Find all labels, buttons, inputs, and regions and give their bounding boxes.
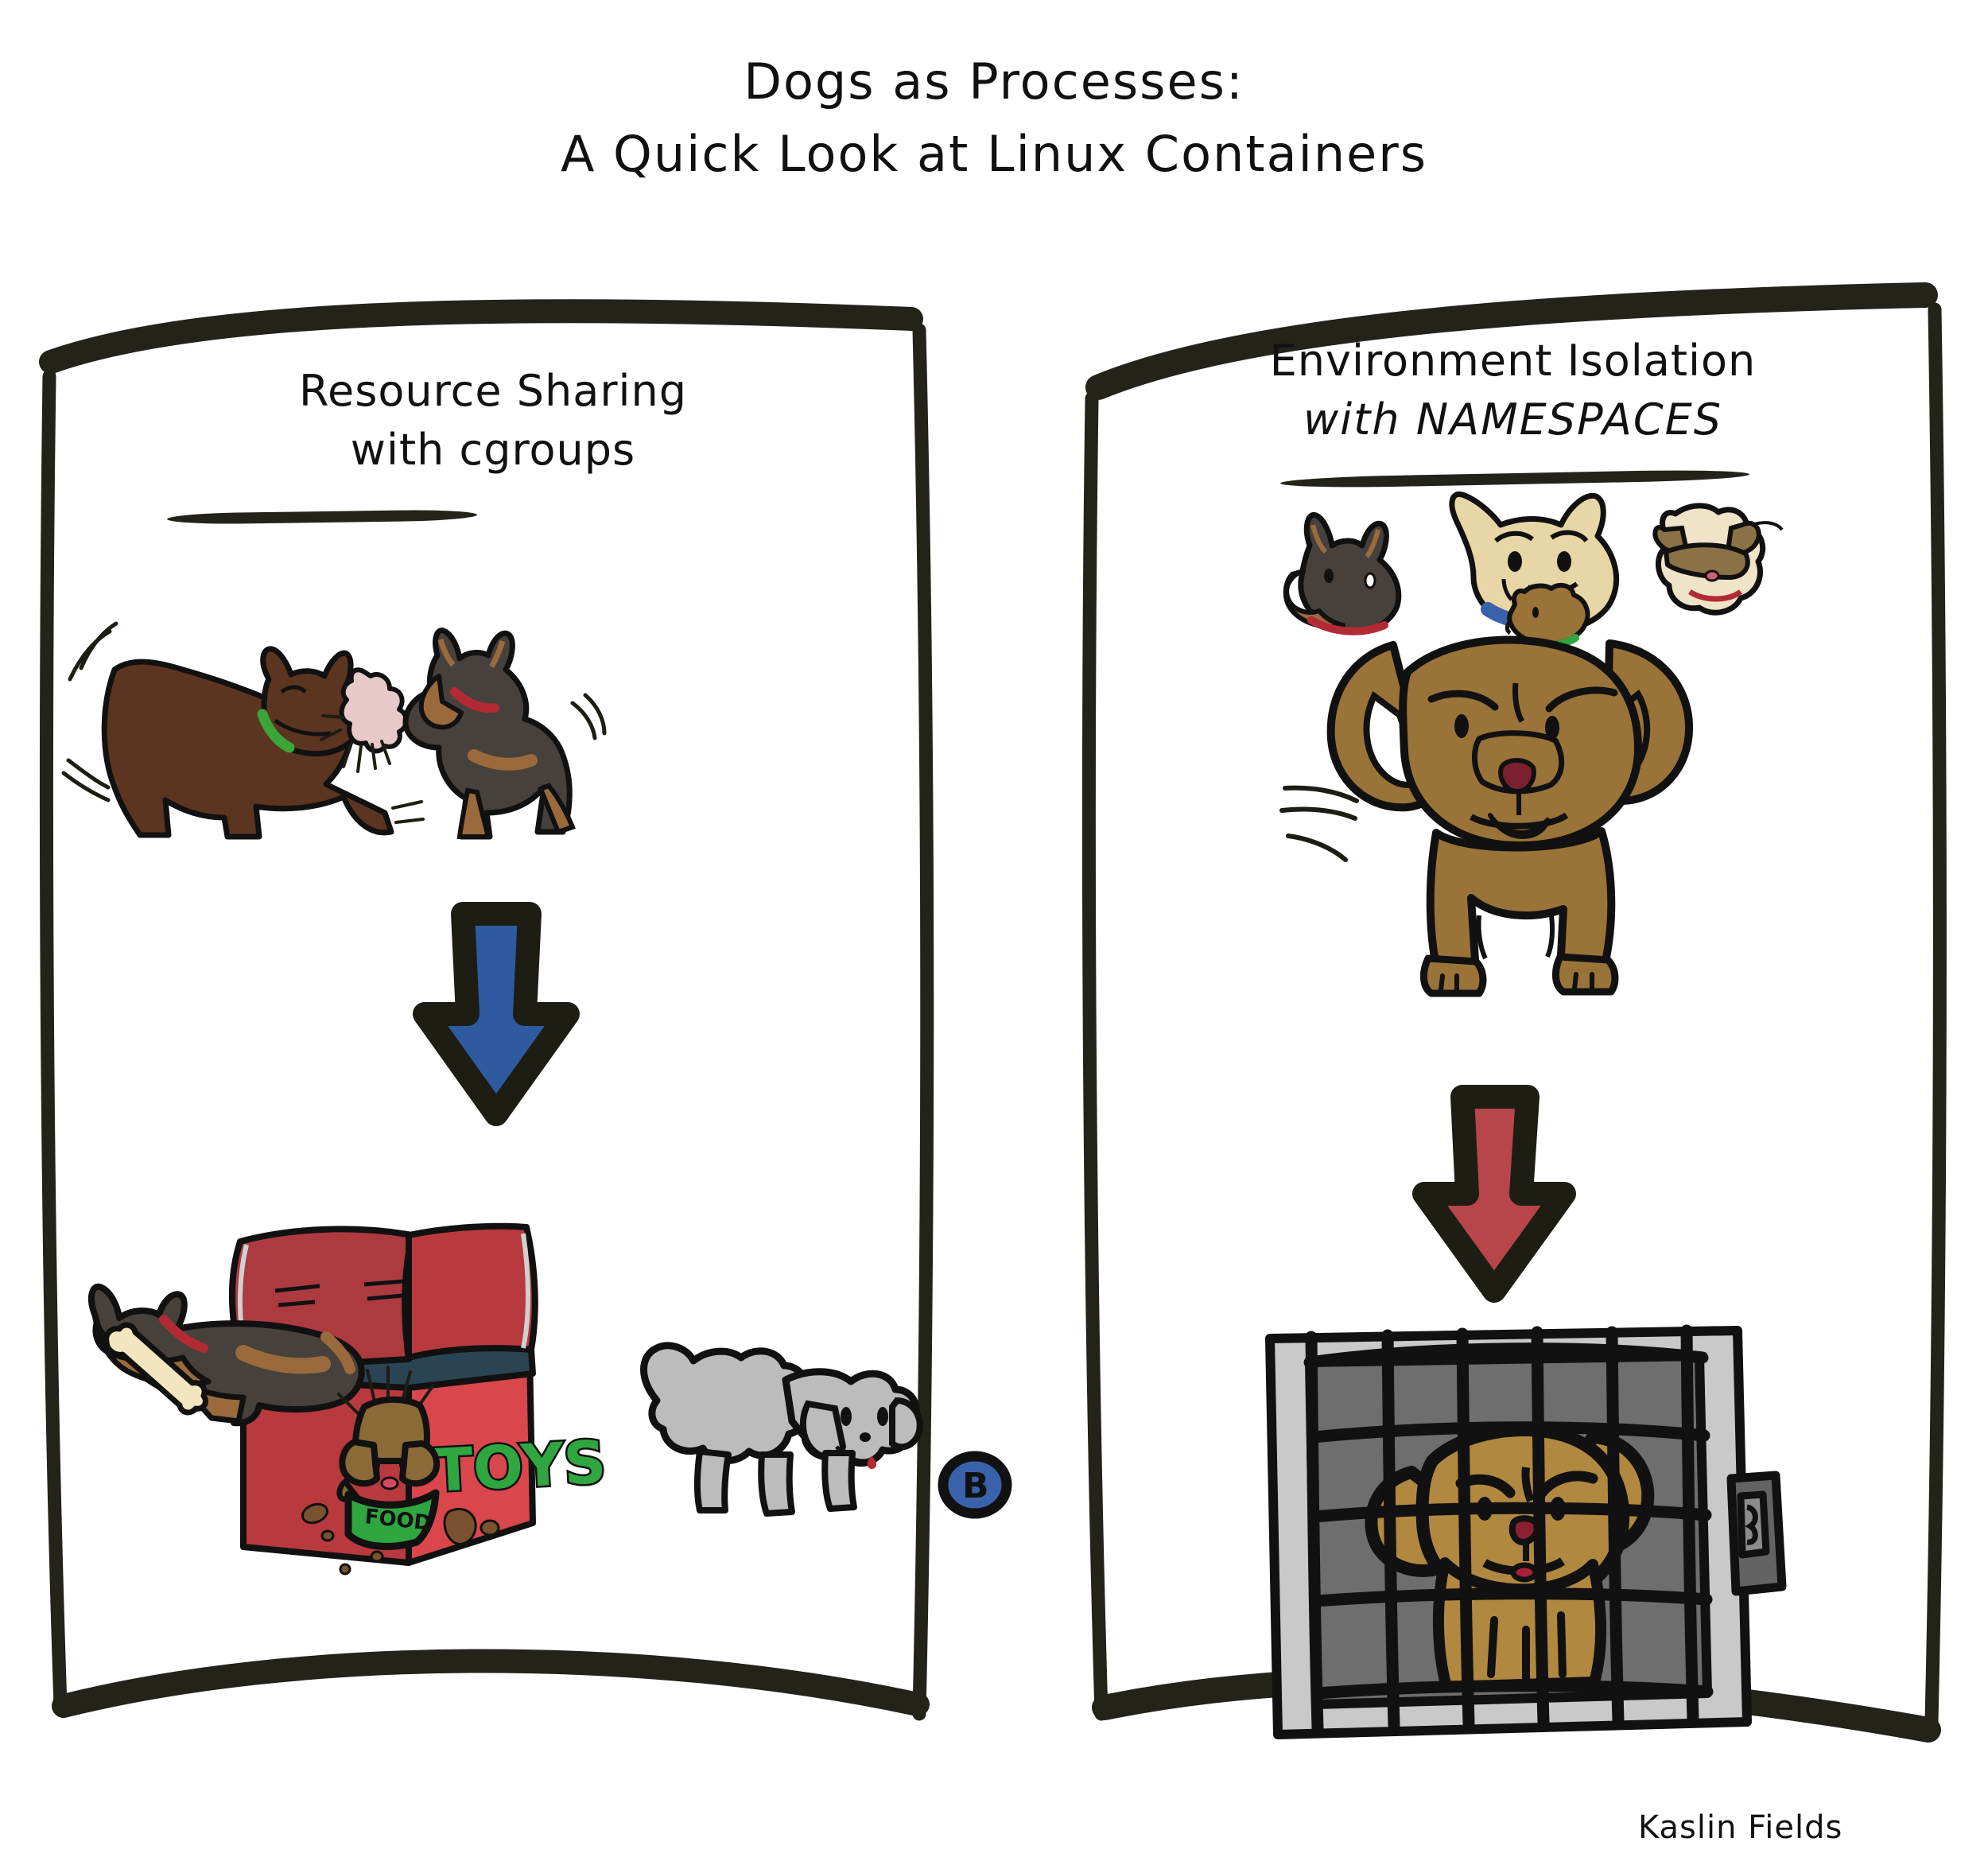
- comic-canvas: Dogs as Processes: A Quick Look at Linux…: [0, 0, 1988, 1869]
- title-line-2: A Quick Look at Linux Containers: [0, 116, 1988, 192]
- panel-left-heading-rule: [167, 509, 477, 524]
- panel-left-heading-line-2: with cgroups: [32, 421, 954, 480]
- author-signature: Kaslin Fields: [1638, 1809, 1842, 1846]
- scruffy-head: [1655, 506, 1782, 612]
- panel-right-heading: Environment Isolation with NAMESPACES: [1077, 332, 1948, 449]
- comic-title: Dogs as Processes: A Quick Look at Linux…: [0, 48, 1988, 192]
- doberman-head: [1286, 515, 1399, 631]
- ball-label: B: [962, 1466, 989, 1506]
- panel-right-heading-line-1: Environment Isolation: [1077, 332, 1948, 391]
- panel-left-heading: Resource Sharing with cgroups: [32, 362, 954, 480]
- toy-box-label: TOYS: [431, 1428, 608, 1506]
- panel-left-heading-line-1: Resource Sharing: [32, 362, 954, 421]
- panel-environment-isolation: Environment Isolation with NAMESPACES: [1077, 282, 1948, 1770]
- panel-right-heading-rule: [1280, 468, 1749, 488]
- panel-right-heading-line-2: with NAMESPACES: [1077, 391, 1948, 449]
- panel-resource-sharing: Resource Sharing with cgroups: [32, 282, 954, 1770]
- title-line-1: Dogs as Processes:: [0, 48, 1988, 116]
